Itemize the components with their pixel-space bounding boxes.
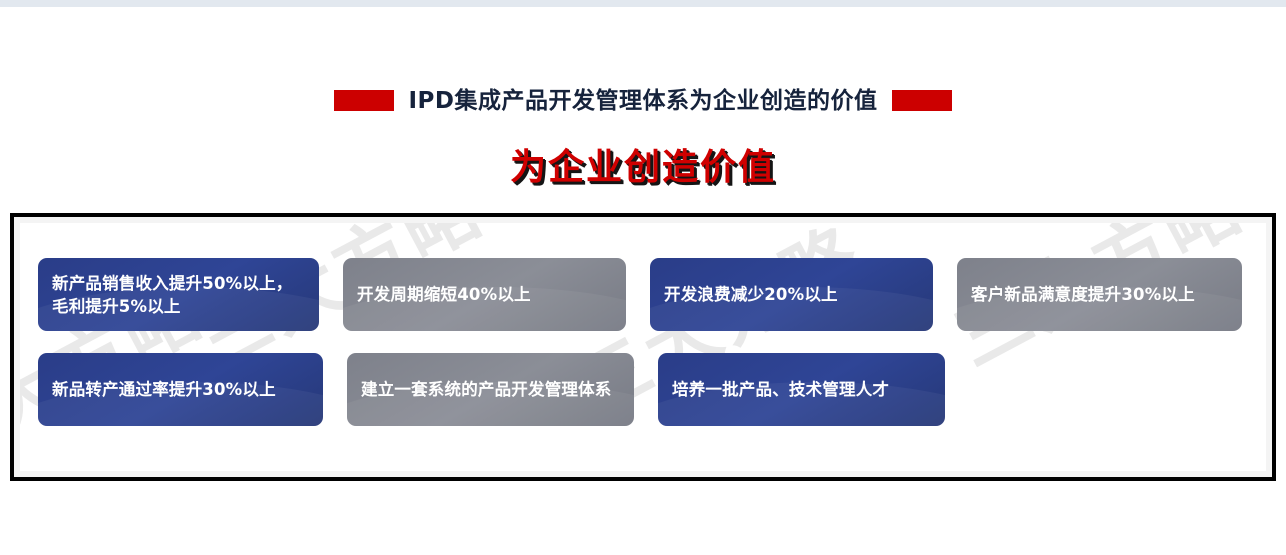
- value-box-label: 建立一套系统的产品开发管理体系: [361, 378, 612, 401]
- value-box-label: 新产品销售收入提升50%以上，毛利提升5%以上: [52, 272, 305, 318]
- subtitle-row: 为企业创造价值: [0, 145, 1286, 191]
- content-panel: 三大方略 三大方略 三大方略 三大方略 新产品销售收入提升50%以上，毛利提升5…: [20, 223, 1266, 471]
- value-box[interactable]: 客户新品满意度提升30%以上: [957, 258, 1242, 331]
- page-title: IPD集成产品开发管理体系为企业创造的价值: [408, 86, 877, 116]
- page-subtitle: 为企业创造价值: [510, 145, 776, 191]
- value-box-row: 新品转产通过率提升30%以上 建立一套系统的产品开发管理体系 培养一批产品、技术…: [38, 353, 1266, 426]
- title-row: IPD集成产品开发管理体系为企业创造的价值: [0, 83, 1286, 117]
- title-decor-left-bar: [334, 90, 394, 111]
- heading-area: IPD集成产品开发管理体系为企业创造的价值 为企业创造价值: [0, 7, 1286, 213]
- value-box[interactable]: 建立一套系统的产品开发管理体系: [347, 353, 634, 426]
- value-box[interactable]: 培养一批产品、技术管理人才: [658, 353, 945, 426]
- value-box-row: 新产品销售收入提升50%以上，毛利提升5%以上 开发周期缩短40%以上 开发浪费…: [38, 258, 1266, 331]
- value-box[interactable]: 开发周期缩短40%以上: [343, 258, 626, 331]
- title-decor-right-bar: [892, 90, 952, 111]
- value-box-label: 客户新品满意度提升30%以上: [971, 283, 1195, 306]
- content-panel-matting: 三大方略 三大方略 三大方略 三大方略 新产品销售收入提升50%以上，毛利提升5…: [14, 217, 1272, 477]
- value-box[interactable]: 新产品销售收入提升50%以上，毛利提升5%以上: [38, 258, 319, 331]
- value-box-label: 新品转产通过率提升30%以上: [52, 378, 276, 401]
- content-panel-frame: 三大方略 三大方略 三大方略 三大方略 新产品销售收入提升50%以上，毛利提升5…: [10, 213, 1276, 481]
- value-box-grid: 新产品销售收入提升50%以上，毛利提升5%以上 开发周期缩短40%以上 开发浪费…: [20, 223, 1266, 426]
- value-box-label: 培养一批产品、技术管理人才: [672, 378, 889, 401]
- value-box-label: 开发周期缩短40%以上: [357, 283, 531, 306]
- value-box[interactable]: 新品转产通过率提升30%以上: [38, 353, 323, 426]
- value-box-label: 开发浪费减少20%以上: [664, 283, 838, 306]
- value-box[interactable]: 开发浪费减少20%以上: [650, 258, 933, 331]
- top-accent-strip: [0, 0, 1286, 7]
